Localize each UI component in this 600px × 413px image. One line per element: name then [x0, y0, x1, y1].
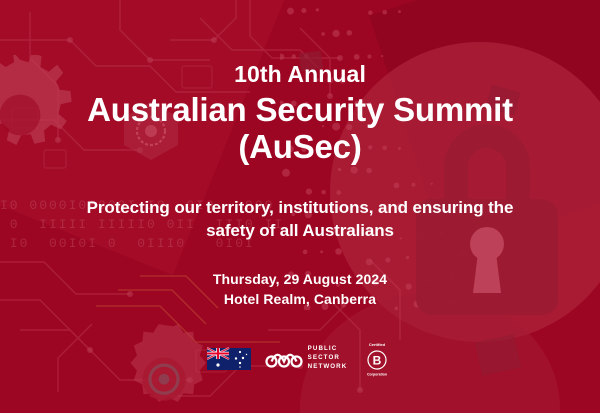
page-title: Australian Security Summit (AuSec)	[87, 92, 513, 166]
event-details: Thursday, 29 August 2024 Hotel Realm, Ca…	[213, 269, 387, 310]
australian-flag-icon	[207, 347, 251, 371]
psn-word-line-1: PUBLIC	[308, 345, 348, 354]
svg-text:B: B	[373, 353, 382, 367]
svg-text:Certified: Certified	[369, 342, 386, 347]
event-venue: Hotel Realm, Canberra	[213, 289, 387, 309]
event-tagline: Protecting our territory, institutions, …	[85, 197, 515, 243]
banner-content: 10th Annual Australian Security Summit (…	[0, 0, 600, 413]
event-kicker: 10th Annual	[234, 62, 366, 87]
psn-word-line-2: SECTOR	[308, 354, 348, 363]
title-line-1: Australian Security Summit	[87, 91, 513, 128]
event-date: Thursday, 29 August 2024	[213, 269, 387, 289]
psn-word-line-3: NETWORK	[308, 363, 348, 372]
public-sector-network-logo: PUBLIC SECTOR NETWORK	[265, 345, 348, 371]
svg-text:Corporation: Corporation	[367, 372, 387, 376]
event-banner: I0 0000I00000I I0 0I0 000 0 IIIII IIIII0…	[0, 0, 600, 413]
psn-mark-icon	[265, 349, 303, 369]
psn-wordmark: PUBLIC SECTOR NETWORK	[308, 345, 348, 371]
b-corp-certified-icon: Certified B Corporation	[361, 340, 393, 378]
title-line-2: (AuSec)	[87, 129, 513, 166]
logo-strip: PUBLIC SECTOR NETWORK Certified B Corpor…	[207, 340, 394, 378]
